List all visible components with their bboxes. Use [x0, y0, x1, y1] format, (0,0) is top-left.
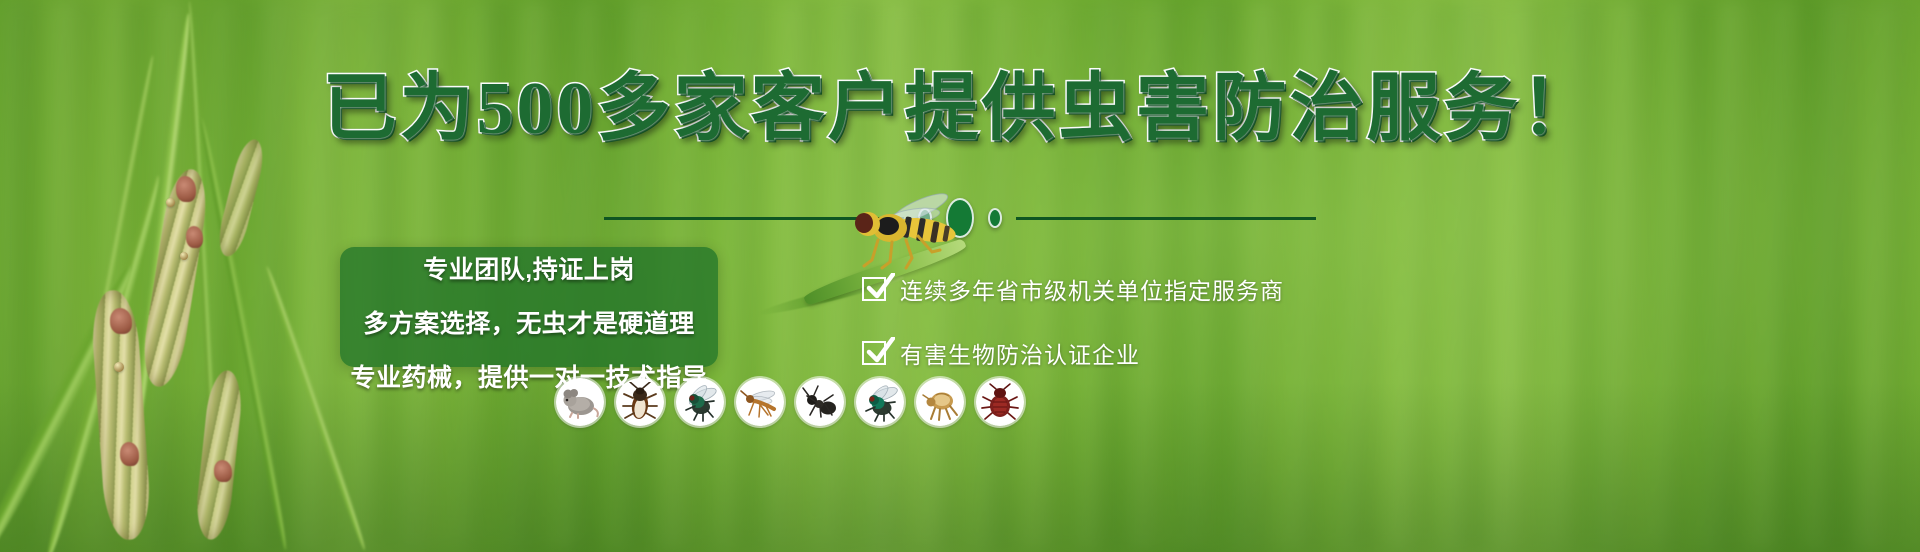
selling-points-list: 专业团队,持证上岗 多方案选择，无虫才是硬道理 专业药械，提供一对一技术指导	[340, 205, 718, 405]
certification-bullet: 连续多年省市级机关单位指定服务商	[862, 272, 1284, 306]
mouse-icon[interactable]	[556, 378, 604, 426]
flea-icon[interactable]	[916, 378, 964, 426]
checkbox-checked-icon	[862, 277, 886, 301]
certification-bullet: 有害生物防治认证企业	[862, 336, 1284, 370]
selling-point-2: 多方案选择，无虫才是硬道理	[363, 304, 695, 340]
seed-detail	[120, 442, 139, 466]
certification-bullets: 连续多年省市级机关单位指定服务商 有害生物防治认证企业	[862, 272, 1284, 370]
certification-bullet-label: 连续多年省市级机关单位指定服务商	[900, 272, 1284, 306]
seed-detail	[180, 252, 188, 260]
fly-icon[interactable]	[676, 378, 724, 426]
seed-detail	[214, 460, 232, 482]
blowfly-icon[interactable]	[856, 378, 904, 426]
promo-banner: 已为500多家客户提供虫害防治服务！ 专业团队,持证上岗 多方案选择，无虫才是硬…	[0, 0, 1920, 552]
checkbox-checked-icon	[862, 341, 886, 365]
divider-rule-right	[1016, 217, 1316, 220]
seed-detail	[110, 308, 132, 334]
pest-type-list	[556, 378, 1024, 426]
certification-bullet-label: 有害生物防治认证企业	[900, 336, 1140, 370]
hoverfly-icon	[848, 190, 978, 276]
ant-icon[interactable]	[796, 378, 844, 426]
bedbug-icon[interactable]	[976, 378, 1024, 426]
mosquito-icon[interactable]	[736, 378, 784, 426]
selling-point-1: 专业团队,持证上岗	[423, 250, 634, 286]
banner-headline: 已为500多家客户提供虫害防治服务！	[0, 72, 1920, 146]
cockroach-icon[interactable]	[616, 378, 664, 426]
seed-detail	[114, 362, 124, 372]
banner-headline-text: 已为500多家客户提供虫害防治服务！	[323, 68, 1598, 150]
foxtail-seed-head	[193, 369, 245, 542]
